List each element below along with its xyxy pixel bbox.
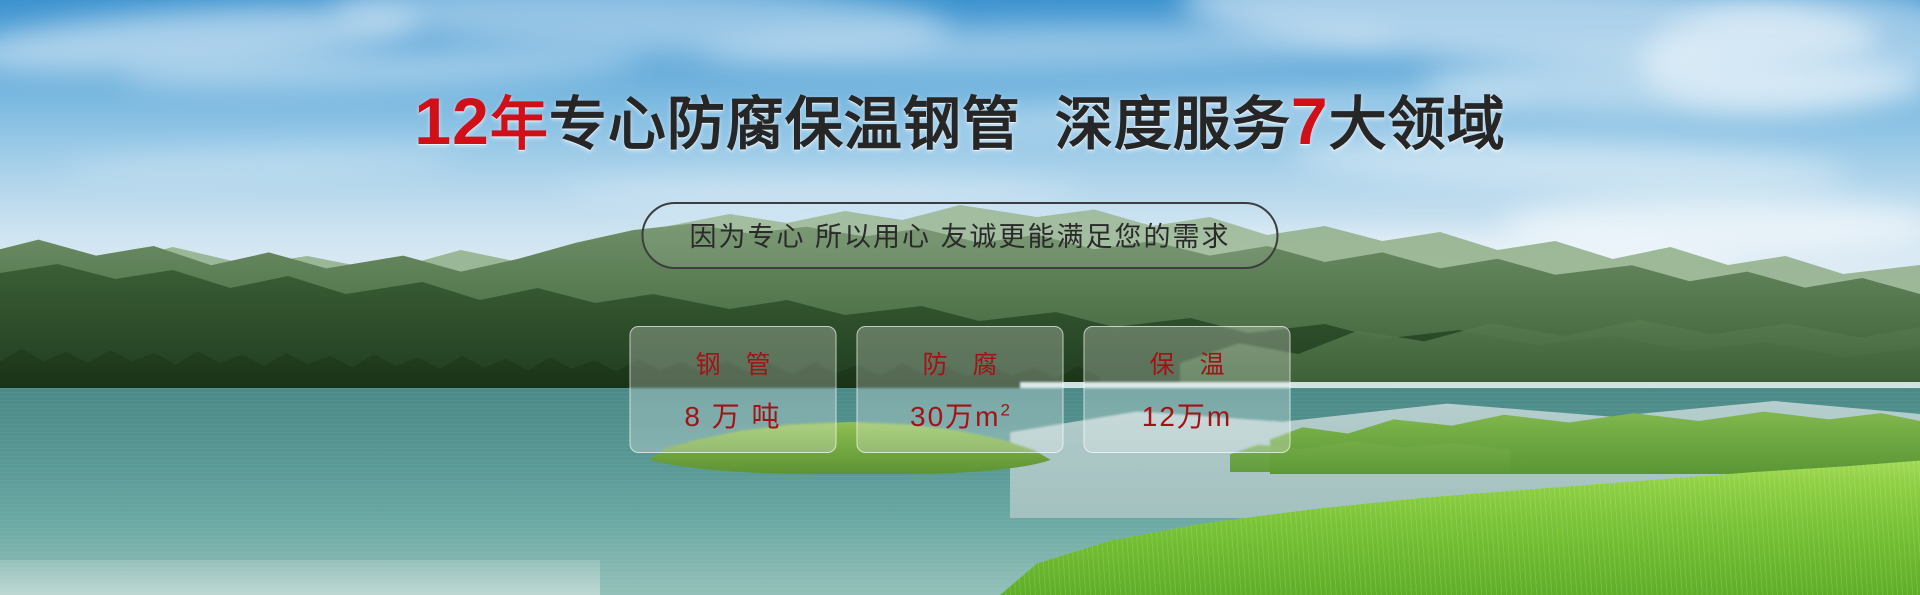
stats-card-group: 钢 管 8 万 吨 防 腐 30万m2 保 温 12万m [630, 326, 1291, 453]
headline-main-text: 专心防腐保温钢管 [549, 92, 1021, 157]
headline-fields-number: 7 [1291, 84, 1329, 158]
stat-card-value-text: 30万m [910, 401, 1000, 432]
stat-card-value: 8 万 吨 [684, 395, 781, 435]
headline-service-text: 深度服务 [1055, 92, 1291, 157]
headline: 12年专心防腐保温钢管深度服务7大领域 [0, 88, 1920, 154]
stat-card-steel-pipe: 钢 管 8 万 吨 [630, 326, 837, 453]
headline-years-unit: 年 [490, 92, 549, 157]
stat-card-title: 保 温 [1141, 345, 1234, 381]
hero-banner: 12年专心防腐保温钢管深度服务7大领域 因为专心 所以用心 友诚更能满足您的需求… [0, 0, 1920, 595]
headline-fields-text: 大领域 [1329, 92, 1506, 157]
stat-card-anticorrosion: 防 腐 30万m2 [857, 326, 1064, 453]
stat-card-value: 30万m2 [910, 395, 1010, 435]
stat-card-value-text: 12万m [1142, 401, 1232, 432]
stat-card-title: 钢 管 [687, 345, 780, 381]
stat-card-value: 12万m [1142, 395, 1232, 435]
subtitle-pill: 因为专心 所以用心 友诚更能满足您的需求 [641, 202, 1278, 269]
stat-card-value-superscript: 2 [1001, 400, 1010, 419]
banner-content: 12年专心防腐保温钢管深度服务7大领域 因为专心 所以用心 友诚更能满足您的需求… [0, 0, 1920, 595]
stat-card-title: 防 腐 [914, 345, 1007, 381]
stat-card-value-text: 8 万 吨 [684, 401, 781, 432]
stat-card-insulation: 保 温 12万m [1084, 326, 1291, 453]
headline-years-number: 12 [414, 84, 489, 158]
